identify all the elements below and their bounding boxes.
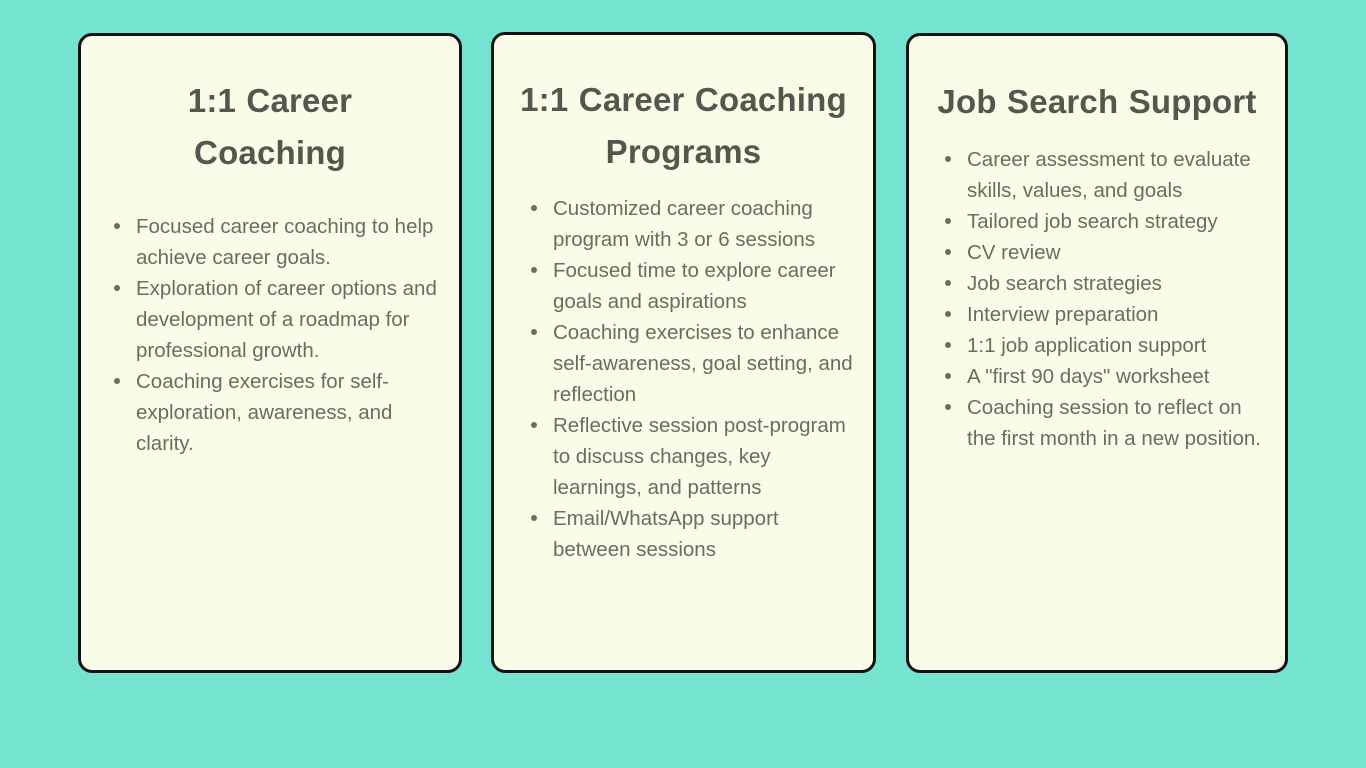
list-item-text: CV review (967, 237, 1271, 268)
list-item-text: Coaching session to reflect on the first… (967, 392, 1271, 454)
list-item-text: Tailored job search strategy (967, 206, 1271, 237)
bullet-dot-icon (945, 280, 951, 286)
service-card-career-coaching-programs: 1:1 Career Coaching Programs Customized … (491, 32, 876, 673)
list-item: Coaching exercises for self-exploration,… (114, 366, 439, 459)
list-item-text: Job search strategies (967, 268, 1271, 299)
bullet-dot-icon (945, 156, 951, 162)
bullet-dot-icon (531, 422, 537, 428)
bullet-dot-icon (531, 267, 537, 273)
card-title: 1:1 Career Coaching Programs (494, 35, 873, 178)
list-item-text: Coaching exercises for self-exploration,… (136, 366, 439, 459)
list-item-text: Email/WhatsApp support between sessions (553, 503, 857, 565)
list-item: Coaching exercises to enhance self-aware… (531, 317, 857, 410)
list-item-text: Interview preparation (967, 299, 1271, 330)
card-title: Job Search Support (909, 36, 1285, 128)
card-title: 1:1 Career Coaching (81, 36, 459, 179)
card-bullet-list: Customized career coaching program with … (494, 193, 873, 565)
list-item-text: Reflective session post-program to discu… (553, 410, 857, 503)
list-item-text: A "first 90 days" worksheet (967, 361, 1271, 392)
bullet-dot-icon (945, 373, 951, 379)
bullet-dot-icon (114, 378, 120, 384)
list-item: Interview preparation (945, 299, 1271, 330)
slide-canvas: 1:1 Career Coaching Focused career coach… (0, 0, 1366, 768)
bullet-dot-icon (531, 329, 537, 335)
list-item: Job search strategies (945, 268, 1271, 299)
list-item-text: Customized career coaching program with … (553, 193, 857, 255)
bullet-dot-icon (531, 515, 537, 521)
bullet-dot-icon (945, 404, 951, 410)
bullet-dot-icon (945, 342, 951, 348)
list-item-text: Career assessment to evaluate skills, va… (967, 144, 1271, 206)
list-item: Career assessment to evaluate skills, va… (945, 144, 1271, 206)
bullet-dot-icon (945, 311, 951, 317)
card-bullet-list: Focused career coaching to help achieve … (81, 211, 459, 459)
list-item: Focused time to explore career goals and… (531, 255, 857, 317)
list-item: Tailored job search strategy (945, 206, 1271, 237)
list-item: Reflective session post-program to discu… (531, 410, 857, 503)
list-item: 1:1 job application support (945, 330, 1271, 361)
list-item-text: Exploration of career options and develo… (136, 273, 439, 366)
list-item-text: Focused career coaching to help achieve … (136, 211, 439, 273)
list-item: A "first 90 days" worksheet (945, 361, 1271, 392)
service-cards-row: 1:1 Career Coaching Focused career coach… (0, 0, 1366, 768)
list-item: Customized career coaching program with … (531, 193, 857, 255)
bullet-dot-icon (945, 249, 951, 255)
list-item-text: 1:1 job application support (967, 330, 1271, 361)
list-item: Focused career coaching to help achieve … (114, 211, 439, 273)
list-item-text: Focused time to explore career goals and… (553, 255, 857, 317)
list-item: Email/WhatsApp support between sessions (531, 503, 857, 565)
list-item-text: Coaching exercises to enhance self-aware… (553, 317, 857, 410)
bullet-dot-icon (114, 223, 120, 229)
bullet-dot-icon (531, 205, 537, 211)
card-bullet-list: Career assessment to evaluate skills, va… (909, 144, 1285, 454)
list-item: Exploration of career options and develo… (114, 273, 439, 366)
bullet-dot-icon (945, 218, 951, 224)
service-card-job-search-support: Job Search Support Career assessment to … (906, 33, 1288, 673)
list-item: Coaching session to reflect on the first… (945, 392, 1271, 454)
bullet-dot-icon (114, 285, 120, 291)
list-item: CV review (945, 237, 1271, 268)
service-card-career-coaching: 1:1 Career Coaching Focused career coach… (78, 33, 462, 673)
